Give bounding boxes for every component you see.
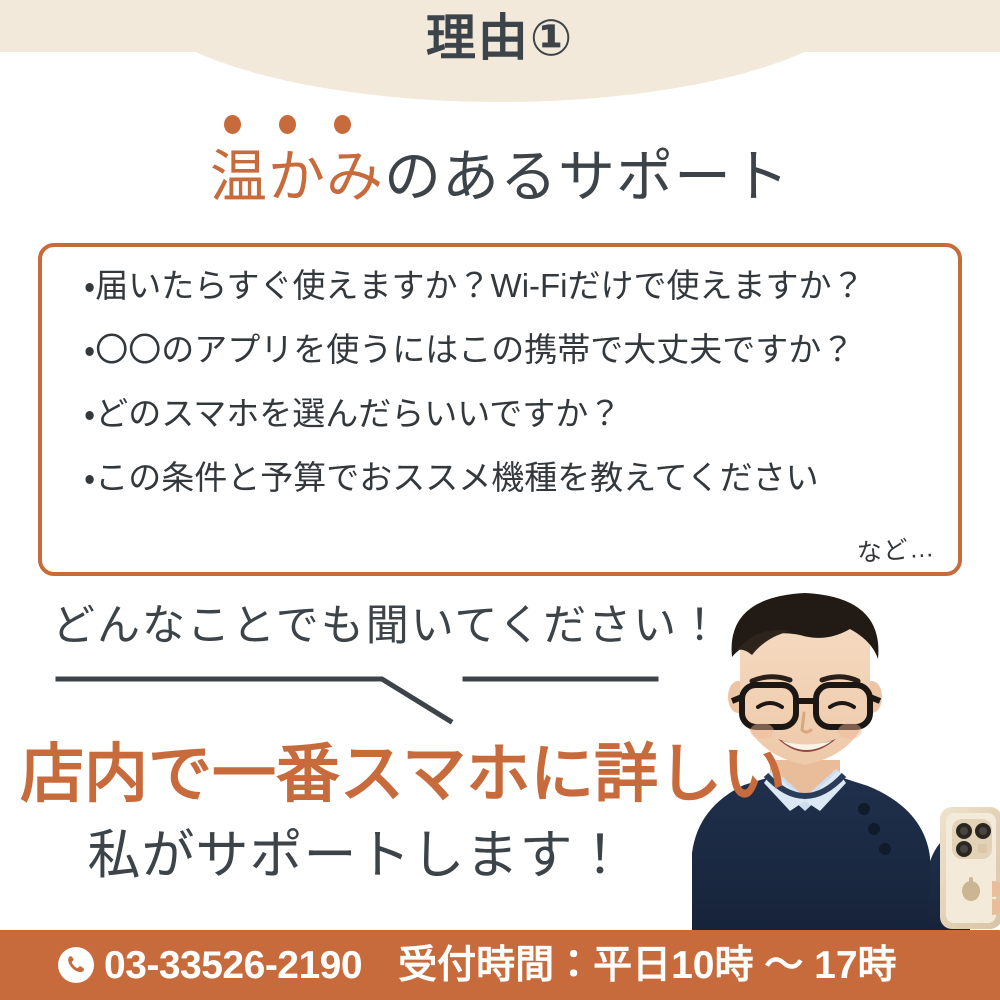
speech-underline-decoration	[50, 665, 670, 725]
phone-icon	[58, 947, 94, 983]
emphasis-dot-2	[279, 115, 296, 134]
ask-anything-text: どんなことでも聞いてください！	[52, 605, 723, 648]
question-box: ・届いたらすぐ使えますか？Wi-Fiだけで使えますか？ ・〇〇のアプリを使うには…	[38, 243, 962, 576]
emphasis-dots	[224, 115, 351, 134]
statement-sub-line: 私がサポートします！	[0, 829, 715, 882]
banner-title: 理由①	[0, 13, 1000, 63]
page-title: 温かみのあるサポート	[0, 145, 1000, 211]
statement-bold-line: 店内で一番スマホに詳しい	[20, 742, 786, 806]
emphasis-dot-3	[334, 115, 351, 134]
question-list: ・届いたらすぐ使えますか？Wi-Fiだけで使えますか？ ・〇〇のアプリを使うには…	[84, 269, 940, 494]
emphasis-dot-1	[224, 115, 241, 134]
page-title-accent: 温かみ	[210, 145, 384, 209]
poster-root: 理由① 温かみのあるサポート ・届いたらすぐ使えますか？Wi-Fiだけで使えます…	[0, 0, 1000, 1000]
contact-footer: 03-33526-2190 受付時間：平日10時 〜 17時	[0, 930, 1000, 1000]
page-title-rest: のあるサポート	[384, 145, 790, 209]
business-hours: 受付時間：平日10時 〜 17時	[398, 946, 896, 985]
list-item: ・どのスマホを選んだらいいですか？	[84, 397, 940, 430]
list-item: ・この条件と予算でおススメ機種を教えてください	[84, 461, 940, 494]
phone-number[interactable]: 03-33526-2190	[104, 946, 362, 985]
list-item: ・〇〇のアプリを使うにはこの携帯で大丈夫ですか？	[84, 333, 940, 366]
question-box-note: など…	[856, 528, 936, 569]
list-item: ・届いたらすぐ使えますか？Wi-Fiだけで使えますか？	[84, 269, 940, 302]
